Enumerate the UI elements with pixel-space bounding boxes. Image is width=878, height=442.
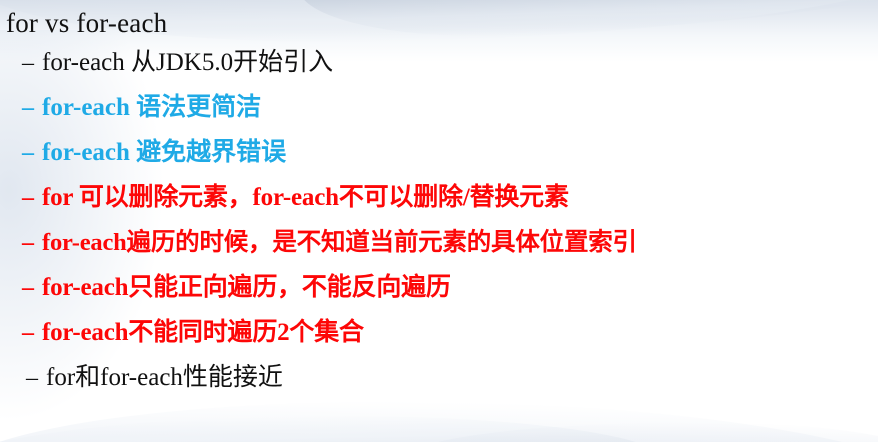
bullet-text-2: for-each 语法更简洁 <box>42 85 261 130</box>
background-bottom-wave-tertiary <box>404 418 878 442</box>
bullet-item-6: – for-each只能正向遍历，不能反向遍历 <box>0 265 878 310</box>
bullet-item-2: – for-each 语法更简洁 <box>0 85 878 130</box>
bullet-dash-icon: – <box>22 266 42 311</box>
bullet-text-3: for-each 避免越界错误 <box>42 130 286 175</box>
bullet-item-1: – for-each 从JDK5.0开始引入 <box>0 40 878 85</box>
bullet-dash-icon: – <box>22 131 42 176</box>
bullet-text-5: for-each遍历的时候，是不知道当前元素的具体位置索引 <box>42 220 637 265</box>
bullet-dash-icon: – <box>22 311 42 356</box>
bullet-text-4: for 可以删除元素，for-each不可以删除/替换元素 <box>42 175 569 220</box>
bullet-text-6: for-each只能正向遍历，不能反向遍历 <box>42 265 451 310</box>
bullet-item-5: – for-each遍历的时候，是不知道当前元素的具体位置索引 <box>0 220 878 265</box>
bullet-dash-icon: – <box>22 221 42 266</box>
bullet-text-7: for-each不能同时遍历2个集合 <box>42 310 364 355</box>
background-bottom-wave <box>0 393 878 442</box>
bullet-text-1: for-each 从JDK5.0开始引入 <box>42 40 333 85</box>
bullet-item-7: – for-each不能同时遍历2个集合 <box>0 310 878 355</box>
bullet-item-4: – for 可以删除元素，for-each不可以删除/替换元素 <box>0 175 878 220</box>
bullet-item-3: – for-each 避免越界错误 <box>0 130 878 175</box>
bullet-dash-icon: – <box>26 356 46 401</box>
bullet-list: – for-each 从JDK5.0开始引入 – for-each 语法更简洁 … <box>0 40 878 400</box>
background-bottom-wave-secondary <box>0 407 668 442</box>
bullet-dash-icon: – <box>22 41 42 86</box>
bullet-text-8: for和for-each性能接近 <box>46 355 283 400</box>
slide-title: for vs for-each <box>0 6 878 40</box>
bullet-dash-icon: – <box>22 176 42 221</box>
bullet-item-8: – for和for-each性能接近 <box>0 355 878 400</box>
presentation-slide: for vs for-each – for-each 从JDK5.0开始引入 –… <box>0 0 878 442</box>
slide-content: for vs for-each – for-each 从JDK5.0开始引入 –… <box>0 0 878 400</box>
bullet-dash-icon: – <box>22 86 42 131</box>
